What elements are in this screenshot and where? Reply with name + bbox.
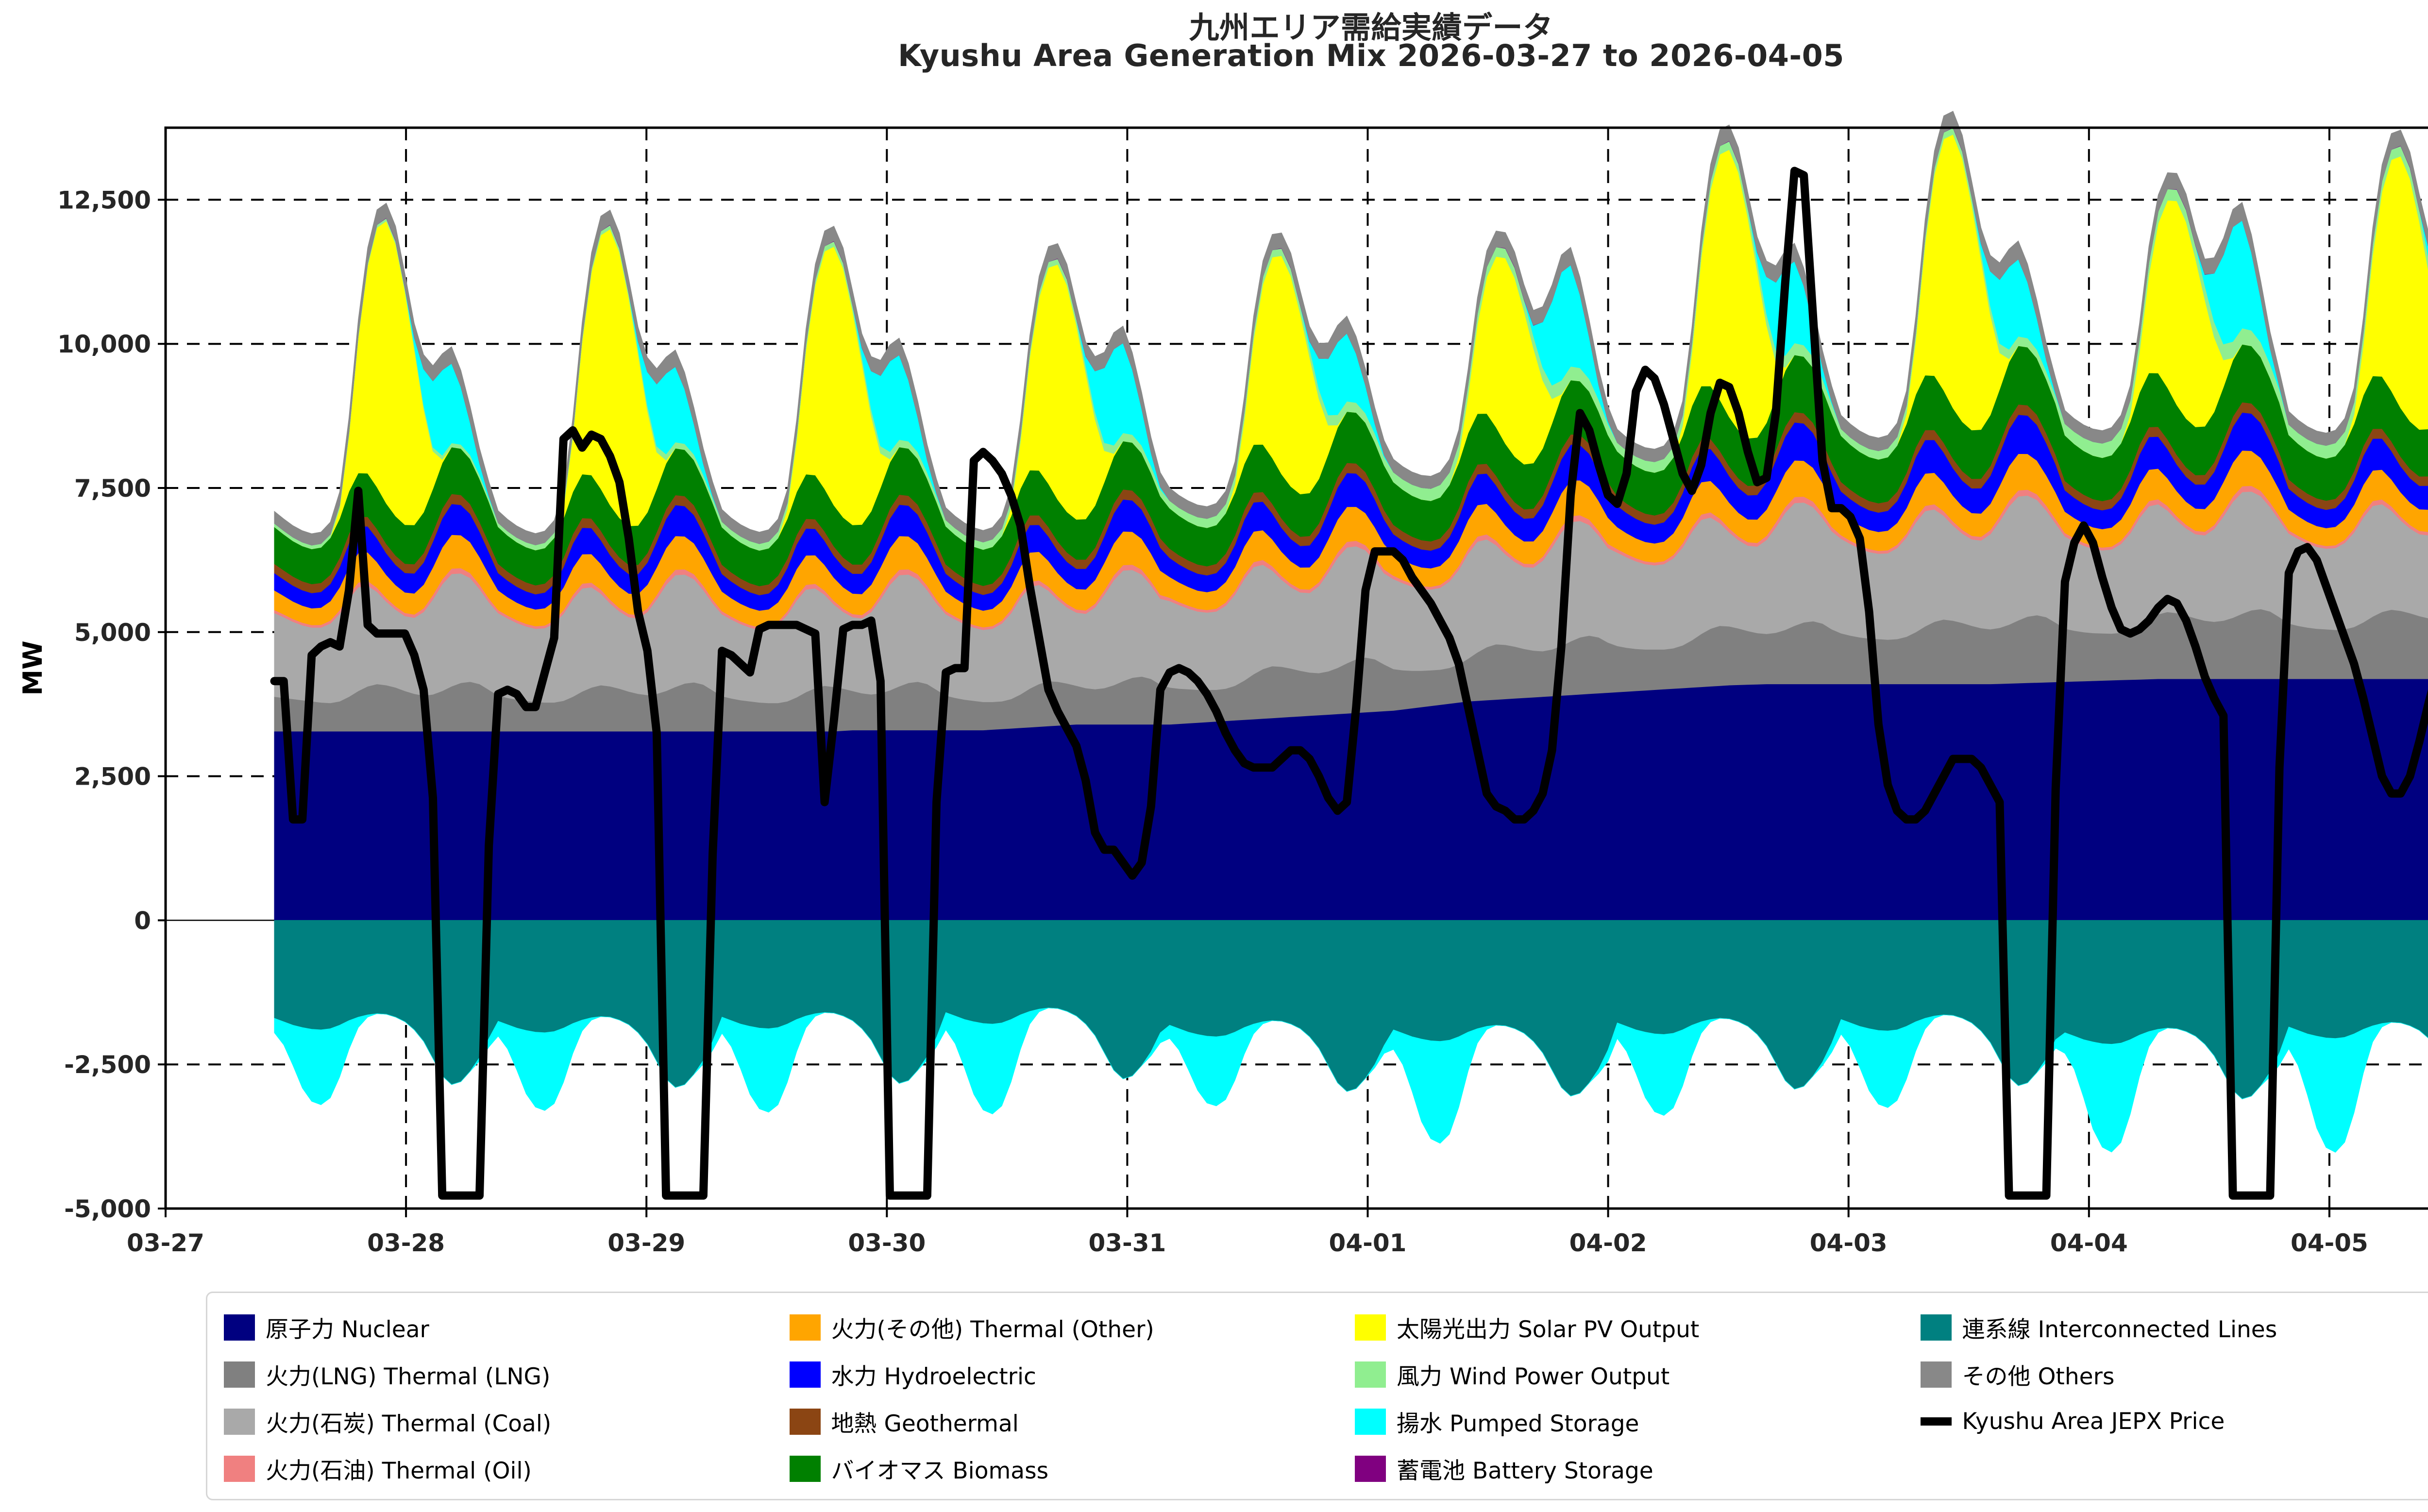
legend-label: Kyushu Area JEPX Price (1962, 1408, 2225, 1435)
legend-label: 地熱 Geothermal (831, 1405, 1019, 1438)
x-axis-tick-label: 03-31 (1088, 1229, 1166, 1257)
y-axis-tick-label: -5,000 (64, 1195, 151, 1223)
x-axis-tick-label: 04-03 (1810, 1229, 1888, 1257)
legend-item[interactable]: バイオマス Biomass (790, 1445, 1342, 1492)
legend-label: その他 Others (1962, 1358, 2115, 1391)
legend-label: 火力(LNG) Thermal (LNG) (266, 1358, 550, 1391)
legend-color-swatch (1921, 1361, 1952, 1388)
legend-color-swatch (224, 1314, 255, 1341)
legend-item[interactable]: 火力(LNG) Thermal (LNG) (224, 1351, 776, 1398)
legend-item[interactable]: 火力(その他) Thermal (Other) (790, 1304, 1342, 1351)
legend-item[interactable]: その他 Others (1921, 1351, 2428, 1398)
legend-item[interactable]: 風力 Wind Power Output (1355, 1351, 1907, 1398)
legend-label: 原子力 Nuclear (266, 1310, 429, 1344)
legend-color-swatch (1355, 1409, 1386, 1435)
legend-color-swatch (224, 1456, 255, 1482)
legend-label: 蓄電池 Battery Storage (1397, 1452, 1653, 1485)
x-axis-tick-label: 03-30 (848, 1229, 926, 1257)
legend-color-swatch (224, 1361, 255, 1388)
generation-mix-chart: -5,000-2,50002,5005,0007,50010,00012,500… (0, 0, 2428, 1512)
legend-color-swatch (790, 1361, 821, 1388)
legend-color-swatch (1355, 1314, 1386, 1341)
y-axis-tick-label: 12,500 (57, 186, 151, 214)
legend-line-swatch (1921, 1417, 1952, 1426)
y-axis-tick-label: -2,500 (64, 1051, 151, 1079)
x-axis-tick-label: 04-05 (2291, 1229, 2368, 1257)
legend-label: バイオマス Biomass (831, 1452, 1049, 1485)
x-axis-tick-label: 04-02 (1569, 1229, 1647, 1257)
legend-item[interactable]: 火力(石炭) Thermal (Coal) (224, 1398, 776, 1445)
legend-color-swatch (224, 1409, 255, 1435)
y-axis-tick-label: 0 (134, 907, 151, 935)
legend-item[interactable]: 太陽光出力 Solar PV Output (1355, 1304, 1907, 1351)
legend-item[interactable]: 火力(石油) Thermal (Oil) (224, 1445, 776, 1492)
legend-color-swatch (790, 1456, 821, 1482)
y-axis-tick-label: 2,500 (74, 763, 151, 791)
legend-color-swatch (1355, 1456, 1386, 1482)
y-axis-tick-label: 7,500 (74, 474, 151, 503)
legend-color-swatch (790, 1409, 821, 1435)
legend-item[interactable]: 連系線 Interconnected Lines (1921, 1304, 2428, 1351)
y-axis-tick-label: 5,000 (74, 619, 151, 647)
legend-item[interactable]: 地熱 Geothermal (790, 1398, 1342, 1445)
chart-legend: 原子力 Nuclear火力(LNG) Thermal (LNG)火力(石炭) T… (206, 1292, 2428, 1500)
legend-label: 揚水 Pumped Storage (1397, 1405, 1639, 1438)
x-axis-tick-label: 04-04 (2050, 1229, 2128, 1257)
legend-color-swatch (1921, 1314, 1952, 1341)
chart-page: 九州エリア需給実績データ Kyushu Area Generation Mix … (0, 0, 2428, 1512)
x-axis-tick-label: 03-29 (607, 1229, 685, 1257)
legend-label: 太陽光出力 Solar PV Output (1397, 1310, 1699, 1344)
legend-color-swatch (790, 1314, 821, 1341)
legend-item[interactable]: 水力 Hydroelectric (790, 1351, 1342, 1398)
legend-label: 火力(石炭) Thermal (Coal) (266, 1405, 551, 1438)
legend-label: 火力(石油) Thermal (Oil) (266, 1452, 532, 1485)
legend-item[interactable]: Kyushu Area JEPX Price (1921, 1398, 2428, 1445)
y-axis-tick-label: 10,000 (57, 330, 151, 358)
x-axis-tick-label: 03-27 (127, 1229, 204, 1257)
legend-label: 火力(その他) Thermal (Other) (831, 1310, 1154, 1344)
legend-label: 連系線 Interconnected Lines (1962, 1310, 2277, 1344)
legend-color-swatch (1355, 1361, 1386, 1388)
legend-item[interactable]: 原子力 Nuclear (224, 1304, 776, 1351)
y-axis-title: MW (17, 640, 48, 695)
legend-item[interactable]: 蓄電池 Battery Storage (1355, 1445, 1907, 1492)
x-axis-tick-label: 04-01 (1329, 1229, 1407, 1257)
legend-item[interactable]: 揚水 Pumped Storage (1355, 1398, 1907, 1445)
legend-label: 風力 Wind Power Output (1397, 1358, 1669, 1391)
x-axis-tick-label: 03-28 (367, 1229, 445, 1257)
legend-label: 水力 Hydroelectric (831, 1358, 1036, 1391)
